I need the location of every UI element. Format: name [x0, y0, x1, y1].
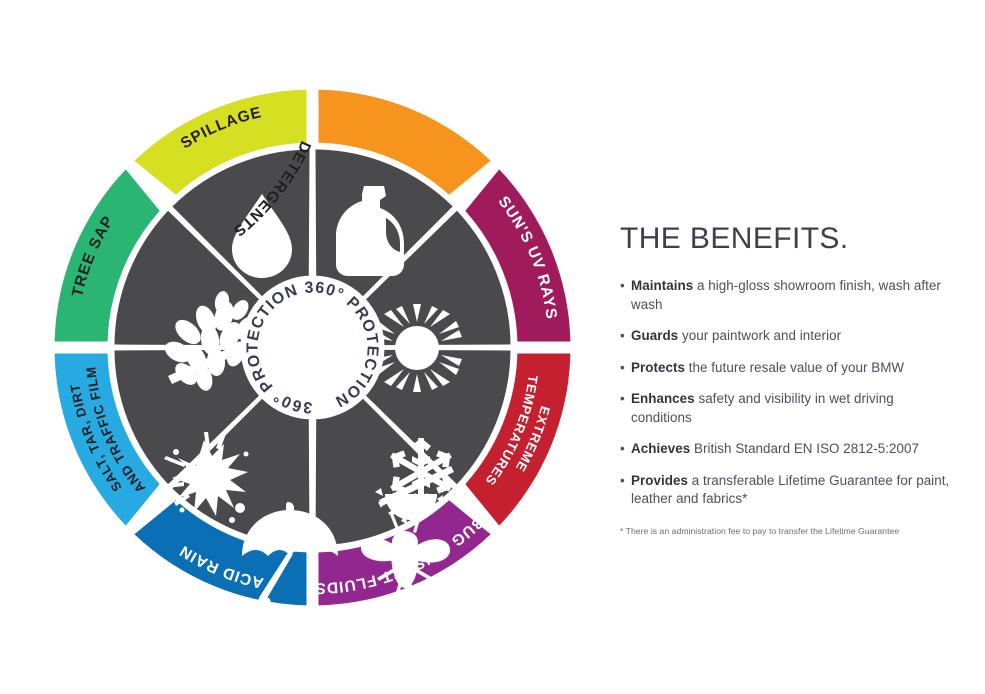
bullet-glyph: • [620, 327, 625, 346]
benefit-lead: Protects [631, 360, 685, 375]
benefit-lead: Guards [631, 328, 678, 343]
benefit-lead: Achieves [631, 441, 690, 456]
benefit-rest: your paintwork and interior [678, 328, 841, 343]
benefit-rest: the future resale value of your BMW [685, 360, 904, 375]
bullet-glyph: • [620, 390, 625, 409]
benefit-lead: Enhances [631, 391, 695, 406]
protection-wheel: DETERGENTS SUN'S UV RAYS EXTREME TEMPERA… [40, 80, 585, 615]
benefits-list: •Maintains a high-gloss showroom finish,… [620, 277, 950, 509]
benefit-lead: Maintains [631, 278, 693, 293]
benefit-rest: British Standard EN ISO 2812-5:2007 [690, 441, 919, 456]
protection-wheel-svg: DETERGENTS SUN'S UV RAYS EXTREME TEMPERA… [40, 80, 585, 615]
bullet-glyph: • [620, 440, 625, 459]
benefits-title: THE BENEFITS. [620, 222, 950, 255]
bullet-glyph: • [620, 359, 625, 378]
benefit-lead: Provides [631, 473, 688, 488]
benefit-item-maintains: •Maintains a high-gloss showroom finish,… [620, 277, 950, 314]
infographic-root: DETERGENTS SUN'S UV RAYS EXTREME TEMPERA… [0, 0, 985, 694]
benefit-item-guards: •Guards your paintwork and interior [620, 327, 950, 346]
benefits-footnote: * There is an administration fee to pay … [620, 525, 950, 537]
wheel-hub [241, 276, 385, 420]
benefit-item-provides: •Provides a transferable Lifetime Guaran… [620, 472, 950, 509]
bullet-glyph: • [620, 277, 625, 296]
benefit-item-protects: •Protects the future resale value of you… [620, 359, 950, 378]
benefit-item-enhances: •Enhances safety and visibility in wet d… [620, 390, 950, 427]
bullet-glyph: • [620, 472, 625, 491]
benefits-panel: THE BENEFITS. •Maintains a high-gloss sh… [620, 222, 950, 537]
benefit-item-achieves: •Achieves British Standard EN ISO 2812-5… [620, 440, 950, 459]
